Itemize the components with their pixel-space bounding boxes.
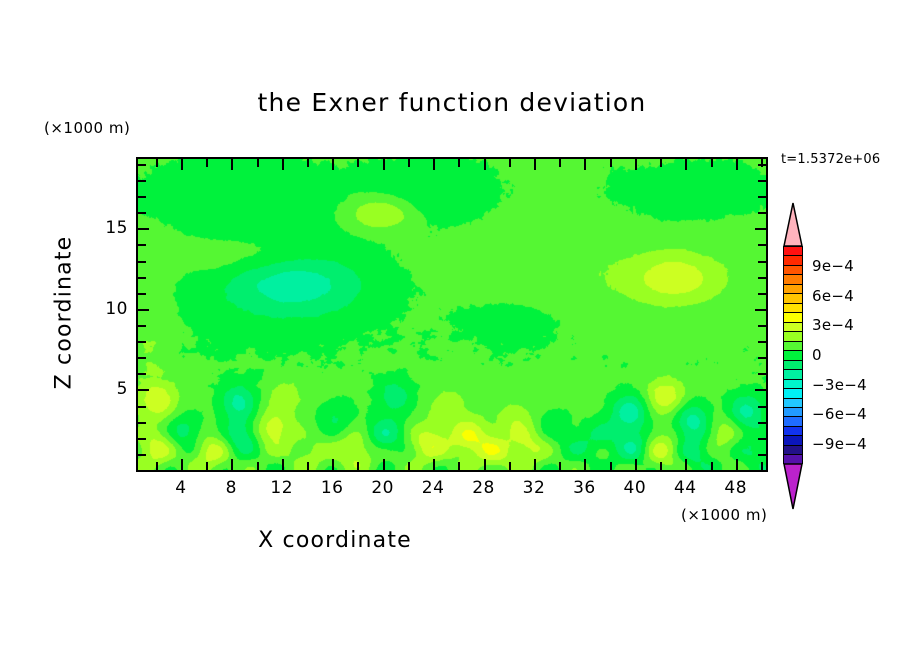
x-tick-label: 20 [371,478,394,498]
colorbar-segment [784,323,802,332]
x-tick-top [509,159,511,167]
y-tick [138,438,146,440]
colorbar-segment [784,399,802,408]
figure-root: the Exner function deviation (×1000 m) t… [0,0,904,654]
x-tick [635,459,637,470]
x-tick [484,459,486,470]
y-tick [138,212,146,214]
colorbar-tick-label: 3e−4 [812,316,854,334]
x-tick [181,459,183,470]
x-tick-top [484,159,486,170]
colorbar-tick-label: 6e−4 [812,287,854,305]
colorbar-segment [784,417,802,426]
colorbar-segment [784,427,802,436]
colorbar-tick-label: −9e−4 [812,435,867,453]
colorbar-segment [784,285,802,294]
x-tick-top [206,159,208,167]
colorbar-segment [784,408,802,417]
x-tick [559,462,561,470]
colorbar-segment [784,351,802,360]
colorbar-segment [784,275,802,284]
y-tick [138,277,146,279]
x-tick [206,462,208,470]
x-tick-top [156,159,158,167]
x-tick [711,462,713,470]
x-tick-top [660,159,662,167]
colorbar-segment [784,370,802,379]
y-tick [138,261,146,263]
x-tick-label: 36 [573,478,596,498]
x-tick [685,459,687,470]
x-tick-top [610,159,612,167]
colorbar [778,200,808,510]
colorbar-under-arrow-icon [783,463,803,510]
y-tick [138,228,149,230]
x-tick-top [383,159,385,170]
y-tick-right [758,180,766,182]
x-tick-top [231,159,233,170]
x-tick-label: 12 [270,478,293,498]
x-tick-top [332,159,334,170]
x-tick [610,462,612,470]
y-axis-title: Z coordinate [52,203,77,423]
x-tick-label: 28 [472,478,495,498]
y-tick [138,244,146,246]
colorbar-segment [784,380,802,389]
x-tick-label: 16 [321,478,344,498]
y-tick [138,325,146,327]
x-axis-unit-label: (×1000 m) [681,506,767,524]
colorbar-segment [784,247,802,256]
y-tick-right [758,277,766,279]
colorbar-tick-label: 0 [812,346,822,364]
x-axis-title: X coordinate [0,528,670,553]
y-tick [138,454,146,456]
colorbar-tick-label: −3e−4 [812,376,867,394]
y-tick-right [758,325,766,327]
y-tick-right [758,244,766,246]
x-tick-label: 4 [175,478,186,498]
y-tick-right [758,341,766,343]
colorbar-segment [784,332,802,341]
y-tick [138,373,146,375]
chart-title: the Exner function deviation [0,88,904,117]
y-tick [138,196,146,198]
x-tick-label: 44 [674,478,697,498]
x-tick-label: 40 [624,478,647,498]
y-tick-right [758,373,766,375]
x-tick-top [711,159,713,167]
y-tick-label: 10 [88,299,128,319]
x-tick-top [685,159,687,170]
colorbar-segments [783,246,803,464]
x-tick-top [307,159,309,167]
colorbar-segment [784,304,802,313]
x-tick [761,462,763,470]
y-tick-right [758,196,766,198]
colorbar-over-arrow-icon [783,202,803,247]
colorbar-segment [784,313,802,322]
x-tick [534,459,536,470]
x-tick-top [534,159,536,170]
y-tick [138,389,149,391]
colorbar-tick-label: −6e−4 [812,405,867,423]
x-tick [307,462,309,470]
x-tick-top [559,159,561,167]
y-tick-right [758,164,766,166]
y-tick-label: 15 [88,218,128,238]
x-tick [433,459,435,470]
x-tick [509,462,511,470]
x-tick-top [357,159,359,167]
x-tick [282,459,284,470]
colorbar-segment [784,361,802,370]
contour-plot-area [136,157,768,472]
x-tick-top [282,159,284,170]
y-tick-right [758,212,766,214]
y-tick-right [758,422,766,424]
colorbar-segment [784,389,802,398]
y-tick [138,293,146,295]
contour-field-canvas [138,159,766,470]
y-tick [138,422,146,424]
x-tick-top [257,159,259,167]
y-tick [138,406,146,408]
y-tick [138,341,146,343]
x-tick [357,462,359,470]
y-tick-right [755,228,766,230]
x-tick-top [433,159,435,170]
x-tick-top [408,159,410,167]
x-tick-label: 48 [724,478,747,498]
x-tick-top [181,159,183,170]
colorbar-tick-label: 9e−4 [812,257,854,275]
x-tick [584,459,586,470]
x-tick [231,459,233,470]
y-tick-right [755,309,766,311]
y-tick-right [755,389,766,391]
y-tick [138,357,146,359]
x-tick-label: 8 [226,478,237,498]
y-axis-unit-label: (×1000 m) [44,119,130,137]
x-tick-label: 32 [523,478,546,498]
x-tick [257,462,259,470]
x-tick-top [584,159,586,170]
y-tick-label: 5 [88,379,128,399]
x-tick [736,459,738,470]
y-tick-right [758,261,766,263]
colorbar-segment [784,294,802,303]
y-tick [138,180,146,182]
y-tick-right [758,406,766,408]
colorbar-segment [784,256,802,265]
x-tick-top [635,159,637,170]
x-tick-top [736,159,738,170]
x-tick [332,459,334,470]
y-tick [138,309,149,311]
colorbar-segment [784,446,802,455]
x-tick-label: 24 [422,478,445,498]
x-tick [383,459,385,470]
x-tick [408,462,410,470]
y-tick-right [758,293,766,295]
time-annotation: t=1.5372e+06 [781,152,880,167]
x-tick [660,462,662,470]
y-tick [138,164,146,166]
x-tick [156,462,158,470]
y-tick-right [758,454,766,456]
x-tick [458,462,460,470]
colorbar-segment [784,266,802,275]
y-tick-right [758,357,766,359]
colorbar-segment [784,436,802,445]
x-tick-top [458,159,460,167]
y-tick-right [758,438,766,440]
colorbar-segment [784,342,802,351]
